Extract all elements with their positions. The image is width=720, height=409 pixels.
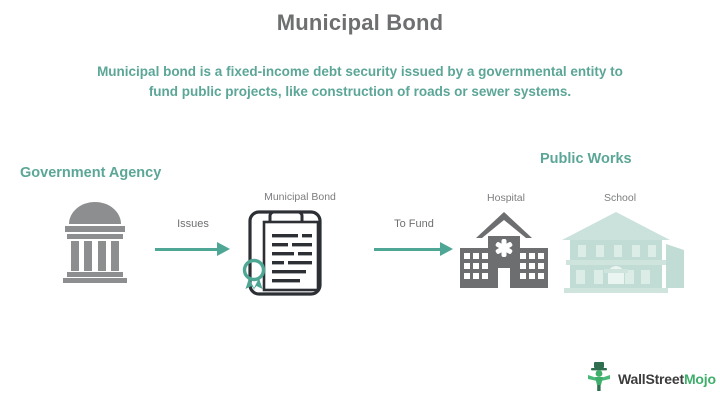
arrow-issues-label: Issues (155, 218, 231, 230)
bond-certificate-icon (228, 206, 332, 307)
caption-municipal-bond: Municipal Bond (250, 191, 350, 203)
definition-text: Municipal bond is a fixed-income debt se… (90, 62, 630, 102)
wallstreetmojo-logo[interactable]: WallStreetMojo (586, 361, 716, 396)
arrow-issues: Issues (155, 238, 231, 262)
arrow-to-fund-shaft (374, 248, 442, 251)
logo-text-wallstreet: WallStreet (618, 371, 684, 387)
mojo-mascot-icon (586, 361, 612, 396)
logo-wordmark: WallStreetMojo (618, 371, 716, 387)
arrow-issues-shaft (155, 248, 219, 251)
government-building-icon (57, 198, 133, 289)
arrow-to-fund: To Fund (374, 238, 454, 262)
arrow-to-fund-label: To Fund (374, 218, 454, 230)
page-title: Municipal Bond (0, 10, 720, 36)
logo-text-mojo: Mojo (684, 371, 716, 387)
hospital-building-icon (458, 210, 550, 297)
section-label-government-agency: Government Agency (20, 165, 161, 181)
caption-school: School (570, 192, 670, 204)
caption-hospital: Hospital (458, 192, 554, 204)
arrow-to-fund-head (440, 242, 453, 256)
section-label-public-works: Public Works (540, 151, 632, 167)
infographic-canvas: Municipal Bond Municipal bond is a fixed… (0, 0, 720, 409)
school-building-icon (556, 210, 688, 299)
